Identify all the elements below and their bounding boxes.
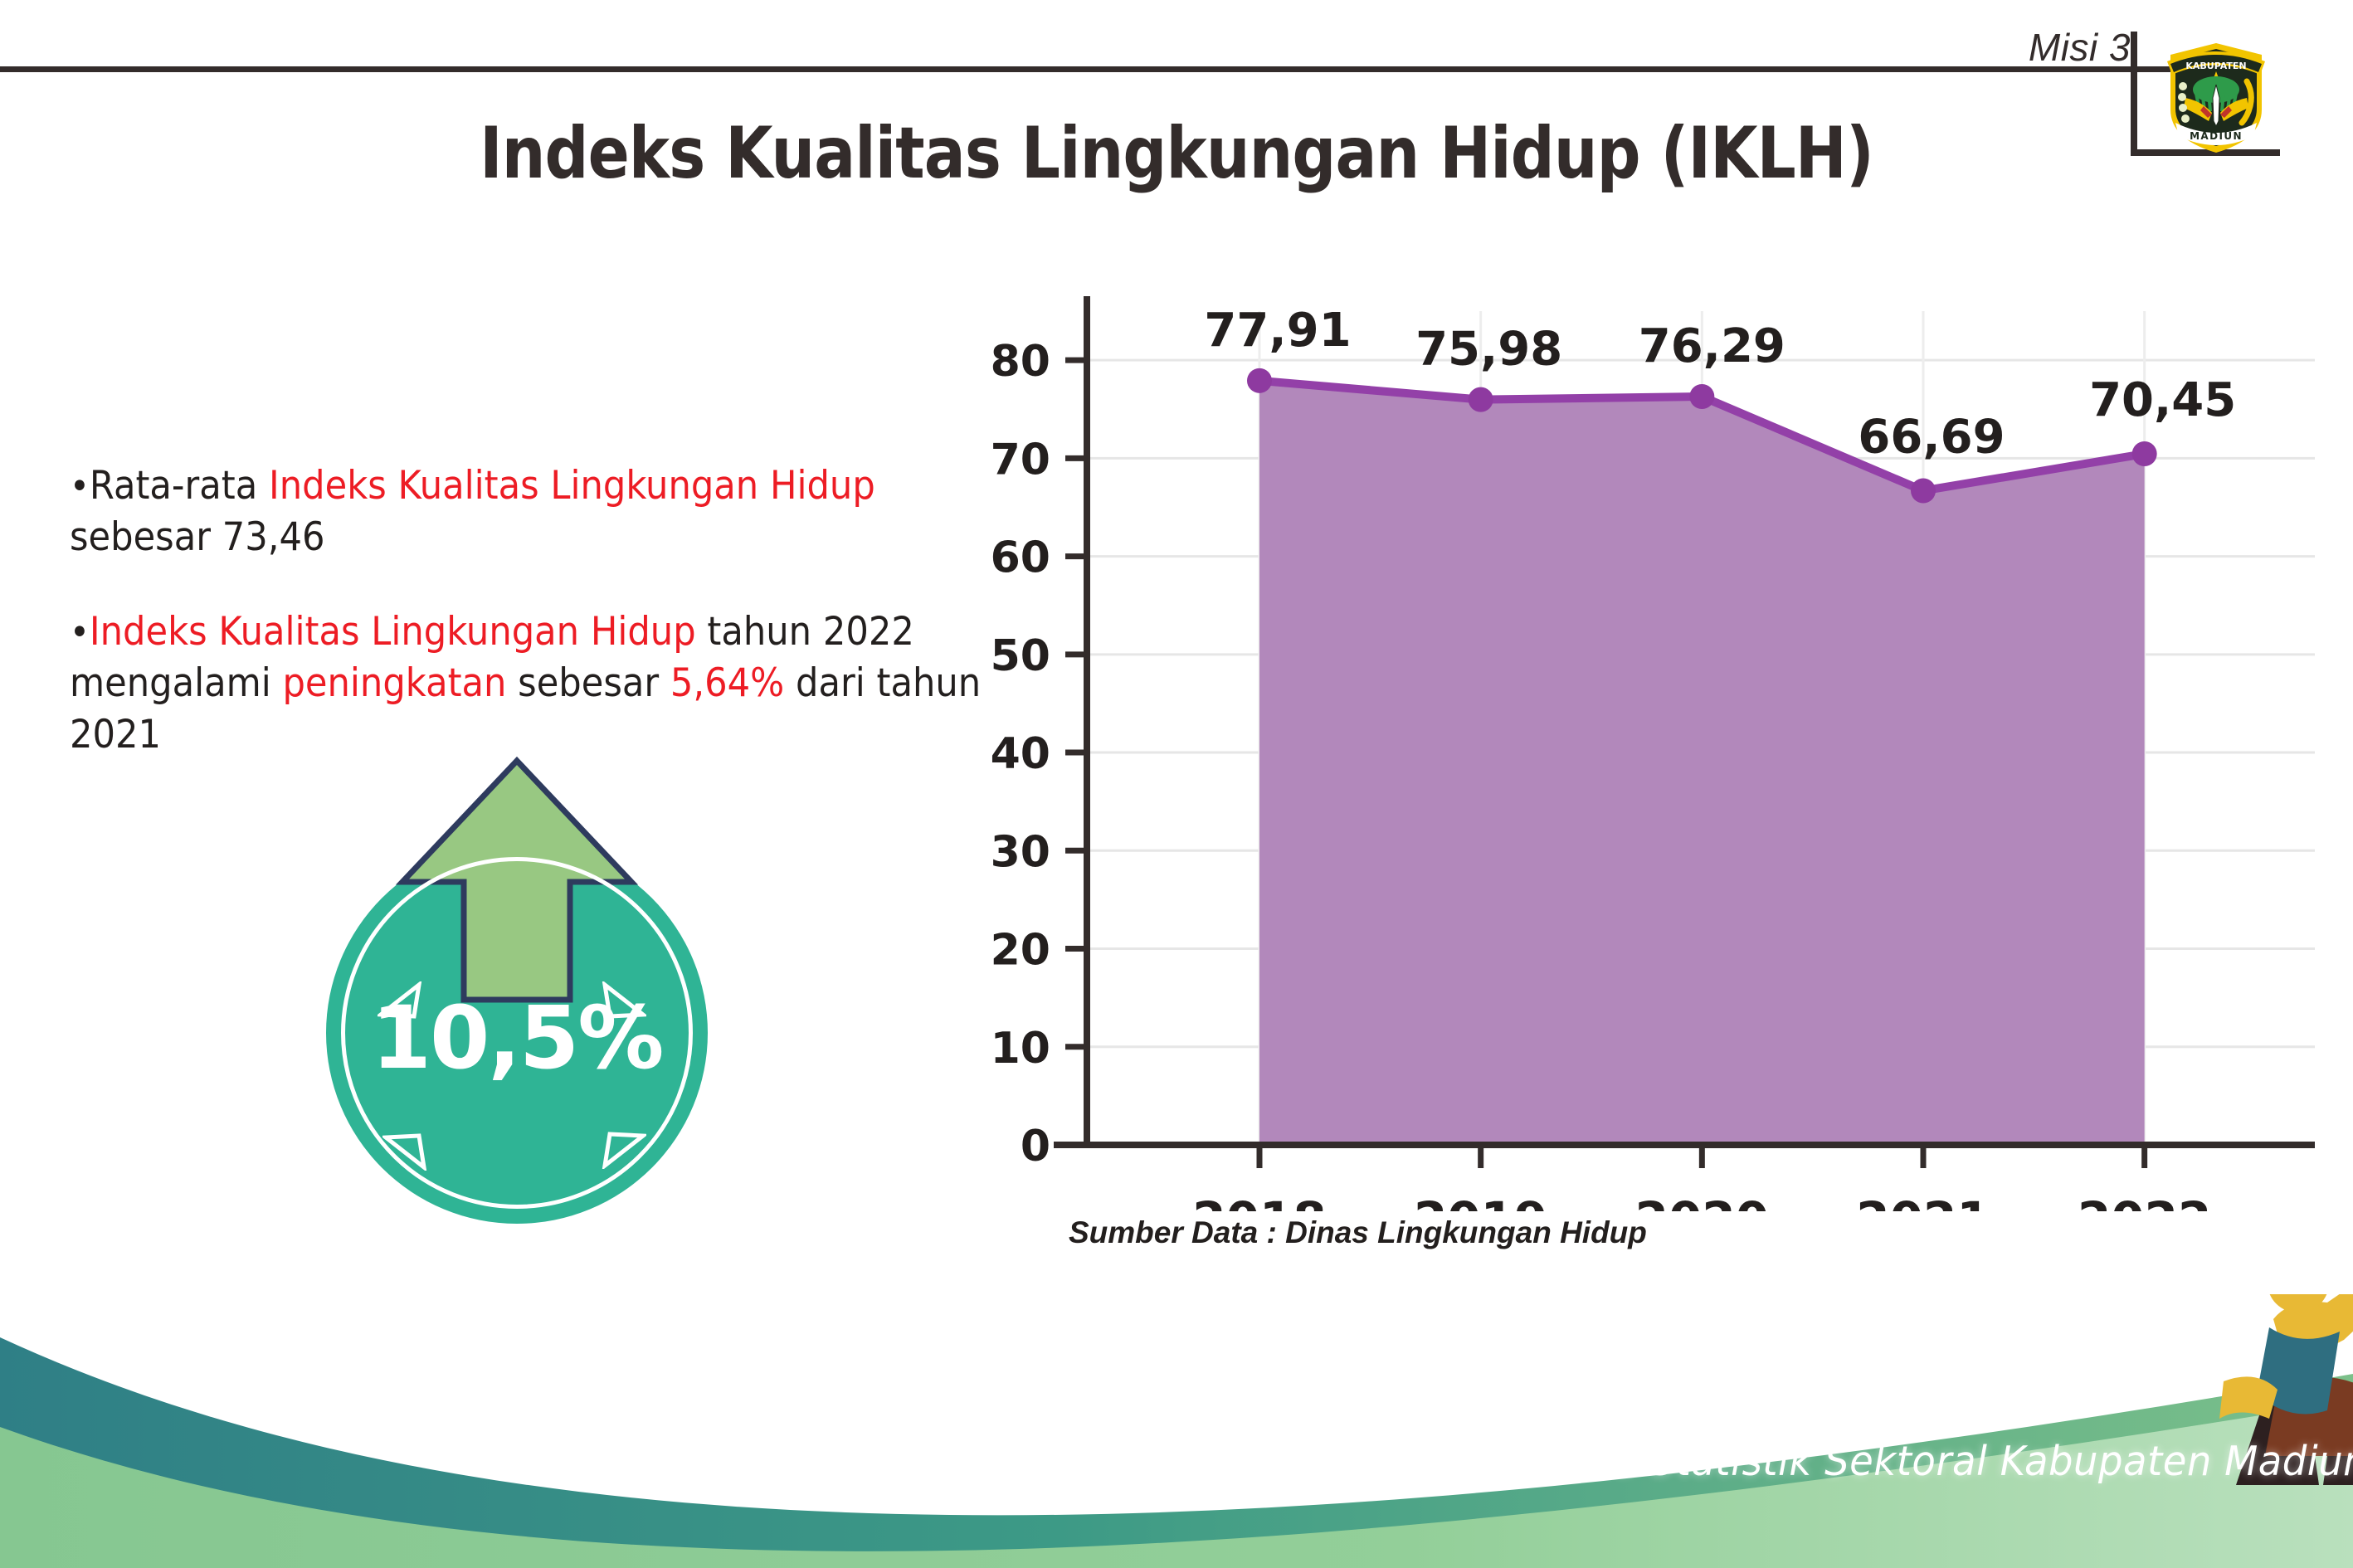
footer-wave: Media Infografis Data Statistik Sektoral… [0,1294,2353,1568]
y-tick-label: 40 [991,729,1050,779]
data-point-marker [1469,387,1493,412]
data-label: 66,69 [1858,410,2005,464]
chart-x-tick-labels: 20182019202020212022 [1192,1191,2211,1211]
highlight-text: 5,64% [670,660,784,706]
sparkle-triangle-icon [382,1132,429,1171]
chart-canvas: 01020304050607080 20182019202020212022 7… [962,274,2340,1211]
footer-caption: Media Infografis Data Statistik Sektoral… [1215,1438,2353,1485]
data-label: 76,29 [1639,319,1785,373]
y-tick-label: 10 [991,1024,1050,1074]
highlight-text: Indeks Kualitas Lingkungan Hidup [269,463,875,509]
y-tick-label: 80 [991,337,1050,387]
plain-text: sebesar [506,660,670,706]
page-title: Indeks Kualitas Lingkungan Hidup (IKLH) [165,112,2189,195]
x-tick-label: 2019 [1414,1191,1547,1211]
increase-badge: 10,5% [326,751,758,1215]
y-tick-label: 50 [991,631,1050,681]
data-point-marker [2132,441,2157,466]
bullet-rich-0: Rata-rata Indeks Kualitas Lingkungan Hid… [70,463,875,560]
bullet-item: •Rata-rata Indeks Kualitas Lingkungan Hi… [70,460,997,563]
x-tick-label: 2021 [1856,1191,1990,1211]
source-note: Sumber Data : Dinas Lingkungan Hidup [1069,1215,1647,1250]
badge-value: 10,5% [326,987,708,1088]
y-tick-label: 20 [991,926,1050,976]
y-tick-label: 60 [991,533,1050,583]
highlight-text: Indeks Kualitas Lingkungan Hidup [90,609,696,655]
bullet-rich-1: Indeks Kualitas Lingkungan Hidup tahun 2… [70,609,981,757]
x-tick-label: 2022 [2078,1191,2211,1211]
plain-text: sebesar 73,46 [70,514,325,560]
svg-text:KABUPATEN: KABUPATEN [2185,61,2246,71]
infographic-slide: Misi 3 KABUPATEN [0,0,2353,1568]
svg-text:MADIUN: MADIUN [2190,130,2243,142]
iklh-area-chart: 01020304050607080 20182019202020212022 7… [962,274,2340,1294]
data-point-marker [1911,478,1936,503]
sparkle-triangle-icon [600,1131,646,1169]
bullet-marker: • [70,611,90,654]
chart-area-series [1259,381,2145,1145]
bullet-item: •Indeks Kualitas Lingkungan Hidup tahun … [70,606,997,761]
x-tick-label: 2018 [1192,1191,1326,1211]
statistics-person-icon [1147,1294,2353,1510]
header-divider [0,66,2190,72]
x-tick-label: 2020 [1635,1191,1769,1211]
data-label: 77,91 [1204,304,1351,358]
data-point-marker [1247,368,1272,393]
y-tick-label: 0 [1021,1122,1050,1171]
plain-text: Rata-rata [90,463,269,509]
footer-wave-shapes [0,1294,2353,1568]
y-tick-label: 30 [991,827,1050,877]
data-point-marker [1689,384,1714,409]
y-tick-label: 70 [991,435,1050,485]
bullet-marker: • [70,465,90,508]
data-label: 75,98 [1415,323,1562,377]
chart-y-tick-labels: 01020304050607080 [991,337,1050,1171]
highlight-text: peningkatan [282,660,506,706]
data-label: 70,45 [2089,373,2236,427]
